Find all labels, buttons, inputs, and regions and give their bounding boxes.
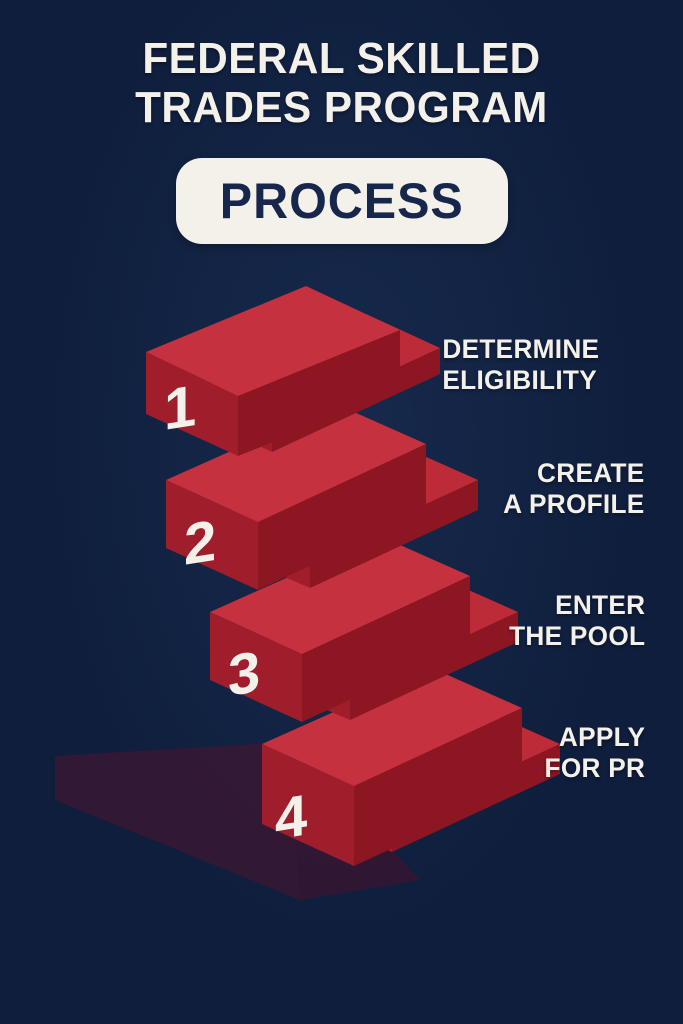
title-line-1: FEDERAL SKILLED bbox=[14, 34, 670, 83]
step-number-4: 4 bbox=[275, 783, 308, 853]
step-label-4: APPLY FOR PR bbox=[545, 722, 646, 784]
step-number-3: 3 bbox=[228, 639, 260, 709]
step-label-3: ENTER THE POOL bbox=[509, 590, 645, 652]
step-label-1: DETERMINE ELIGIBILITY bbox=[442, 334, 599, 396]
process-badge: PROCESS bbox=[176, 158, 508, 244]
step-number-2: 2 bbox=[184, 508, 216, 578]
title-line-2: TRADES PROGRAM bbox=[14, 83, 670, 132]
step-number-1: 1 bbox=[164, 373, 196, 443]
step-label-2: CREATE A PROFILE bbox=[503, 458, 644, 520]
process-badge-label: PROCESS bbox=[220, 172, 464, 230]
infographic-poster: FEDERAL SKILLED TRADES PROGRAM PROCESS bbox=[0, 0, 683, 1024]
page-title: FEDERAL SKILLED TRADES PROGRAM bbox=[0, 34, 683, 133]
